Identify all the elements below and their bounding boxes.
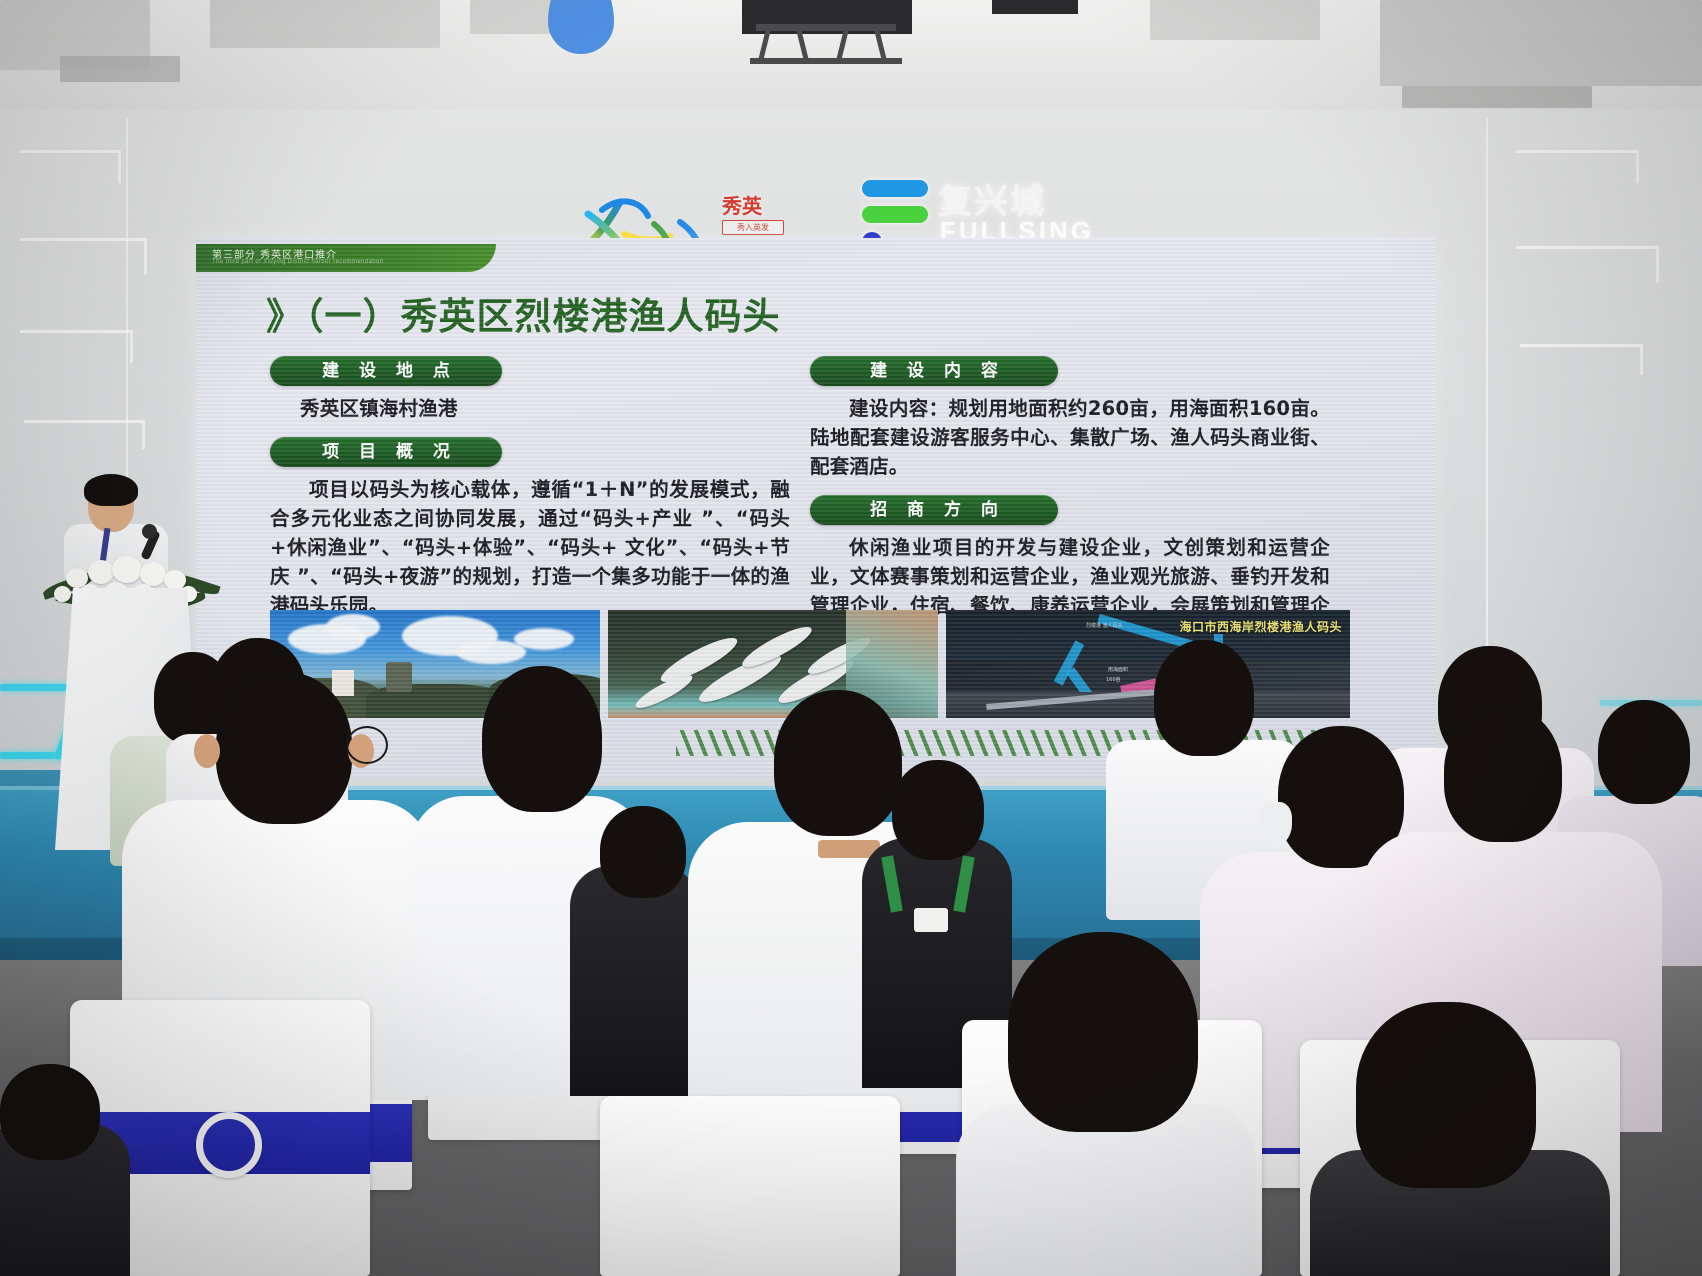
microphone-head-icon [142, 524, 157, 539]
slide-left-column: 建 设 地 点 秀英区镇海村渔港 项 目 概 况 项目以码头为核心载体，遵循“1… [270, 356, 790, 634]
wall-notch [20, 238, 147, 275]
construction-location-text: 秀英区镇海村渔港 [300, 394, 790, 423]
conference-room-photo: HAIKOU CITY 秀英 秀入英发 复兴城 FULLSING 互联网信息产业… [0, 0, 1702, 1276]
speaker-hair [84, 474, 138, 506]
xiuying-seal-tagline: 秀入英发 [722, 220, 784, 235]
wall-notch [1516, 246, 1659, 283]
pill-construction-content: 建 设 内 容 [810, 356, 1058, 386]
logo-band: HAIKOU CITY 秀英 秀入英发 复兴城 FULLSING 互联网信息产业… [0, 82, 1702, 202]
fullsing-bar-blue [862, 180, 928, 197]
glasses-icon [346, 726, 388, 764]
ceiling-panel [210, 0, 440, 48]
ceiling-panel [1380, 0, 1702, 86]
aerial-boats-photo [608, 610, 938, 718]
xiuying-seal-text: 秀英 [722, 196, 784, 216]
truss-beam [750, 58, 902, 64]
slide-title-text: （一）秀英区烈楼港渔人码头 [305, 295, 781, 338]
map-mini-label: 烈楼港 渔人码头 [1086, 622, 1123, 629]
face-mask-icon [1258, 802, 1292, 846]
pill-project-overview: 项 目 概 况 [270, 437, 502, 467]
ceiling-panel [60, 56, 180, 82]
map-mini-label: 160亩 [1106, 676, 1121, 683]
map-mini-label: 用海面积 [1108, 666, 1128, 673]
chevron-right-icon: 》 [266, 295, 297, 338]
wall-notch [1520, 344, 1643, 375]
slide-section-banner-en: The third part of Xiuying District harbo… [212, 259, 383, 265]
construction-content-text: 建设内容：规划用地面积约260亩，用海面积160亩。陆地配套建设游客服务中心、集… [810, 394, 1330, 481]
pill-investment-direction: 招 商 方 向 [810, 495, 1058, 525]
pill-construction-location: 建 设 地 点 [270, 356, 502, 386]
wall-notch [20, 330, 133, 363]
ceiling-rail [992, 0, 1078, 14]
ceiling-panel [1150, 0, 1320, 40]
map-title-label: 海口市西海岸烈楼港渔人码头 [1179, 618, 1342, 635]
wall-seam [1486, 118, 1488, 738]
chair [600, 1096, 900, 1276]
project-overview-text: 项目以码头为核心载体，遵循“1＋N”的发展模式，融合多元化业态之间协同发展，通过… [270, 475, 790, 620]
slide-section-banner: 第三部分 秀英区港口推介 The third part of Xiuying D… [196, 244, 496, 272]
slide-title: 》（一）秀英区烈楼港渔人码头 [266, 286, 781, 340]
badge [914, 908, 948, 932]
wall-notch [24, 420, 145, 449]
site-plan-map: 烈楼港 渔人码头 用海面积 160亩 海口市西海岸烈楼港渔人码头 [946, 610, 1350, 718]
chair-sash-ring [196, 1112, 262, 1178]
fullsing-bar-green [862, 206, 928, 223]
